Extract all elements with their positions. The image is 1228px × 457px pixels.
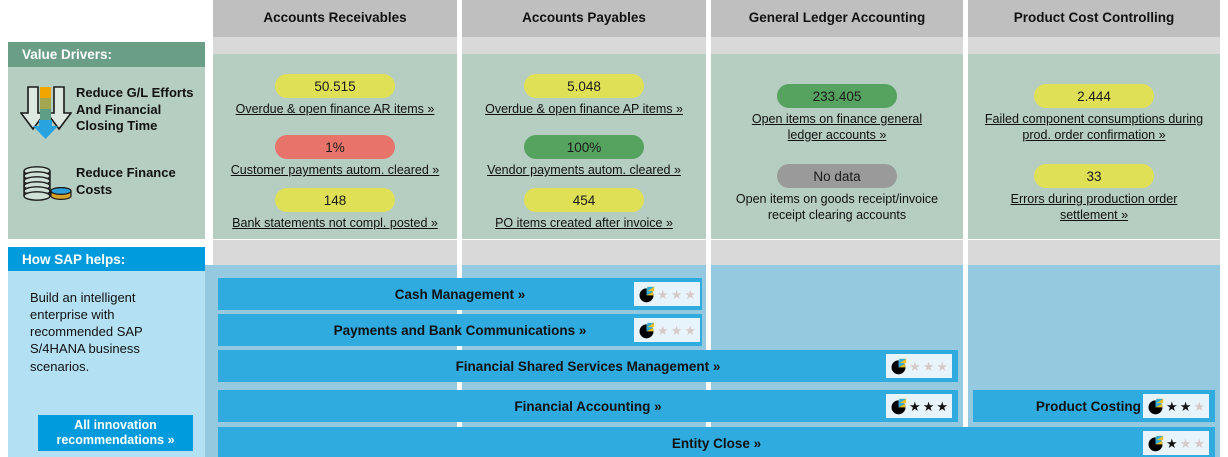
- column-header-ap-label: Accounts Payables: [522, 11, 646, 26]
- column-header-gl: General Ledger Accounting: [711, 0, 963, 37]
- scenario-entity-close[interactable]: Entity Close » ★ ★ ★: [218, 427, 1215, 457]
- star-3: ★: [1193, 437, 1205, 450]
- column-subheader-pcc: [968, 37, 1220, 54]
- star-3: ★: [684, 288, 696, 301]
- pie-chart-icon: [638, 322, 655, 339]
- star-1: ★: [909, 360, 921, 373]
- scenario-financial-accounting-label: Financial Accounting »: [514, 399, 661, 414]
- scenario-entity-close-rating: ★ ★ ★: [1143, 431, 1209, 455]
- how-sap-helps-panel: Build an intelligent enterprise with rec…: [8, 271, 205, 457]
- all-innovation-recommendations-button[interactable]: All innovation recommendations »: [38, 415, 193, 451]
- pie-chart-icon: [890, 398, 907, 415]
- kpi-ar-2-value: 148: [275, 188, 395, 212]
- star-2: ★: [1180, 437, 1192, 450]
- star-3: ★: [936, 400, 948, 413]
- scenario-financial-accounting[interactable]: Financial Accounting » ★ ★ ★: [218, 390, 958, 422]
- column-subheader-gl: [711, 37, 963, 54]
- kpi-column-ar: 50.515 Overdue & open finance AR items »…: [213, 54, 457, 239]
- pie-chart-icon: [890, 358, 907, 375]
- kpi-pcc-1-value: 33: [1034, 164, 1154, 188]
- column-subheader-ar: [213, 37, 457, 54]
- coin-stack-icon: [20, 165, 76, 210]
- scenario-cash-management[interactable]: Cash Management » ★ ★ ★: [218, 278, 702, 310]
- star-1: ★: [909, 400, 921, 413]
- how-sap-helps-title: How SAP helps:: [8, 247, 205, 271]
- scenario-track-head-pcc: [968, 240, 1220, 265]
- scenario-track-head-ar: [213, 240, 457, 265]
- scenario-financial-accounting-rating: ★ ★ ★: [886, 394, 952, 418]
- scenario-cash-management-rating: ★ ★ ★: [634, 282, 700, 306]
- scenario-track-head-ap: [462, 240, 706, 265]
- kpi-pcc-0[interactable]: 2.444 Failed component consumptions duri…: [968, 84, 1220, 143]
- scenario-financial-shared-services-management-rating: ★ ★ ★: [886, 354, 952, 378]
- kpi-ar-1-caption[interactable]: Customer payments autom. cleared »: [231, 163, 439, 179]
- kpi-column-gl: 233.405 Open items on finance general le…: [711, 54, 963, 239]
- top-left-spacer: [0, 0, 205, 42]
- kpi-pcc-0-caption[interactable]: Failed component consumptions during pro…: [974, 112, 1214, 143]
- column-subheader-ap: [462, 37, 706, 54]
- left-divider-gap: [0, 239, 205, 247]
- star-2: ★: [1180, 400, 1192, 413]
- kpi-gl-1-caption: Open items on goods receipt/invoice rece…: [721, 192, 953, 223]
- value-driver-label-0: Reduce G/L Efforts And Financial Closing…: [76, 85, 196, 135]
- kpi-pcc-0-value: 2.444: [1034, 84, 1154, 108]
- pie-chart-icon: [1147, 398, 1164, 415]
- kpi-column-ap: 5.048 Overdue & open finance AP items » …: [462, 54, 706, 239]
- value-drivers-title-label: Value Drivers:: [22, 47, 112, 62]
- kpi-gl-1-value: No data: [777, 164, 897, 188]
- kpi-ap-0-caption[interactable]: Overdue & open finance AP items »: [485, 102, 683, 118]
- star-2: ★: [671, 324, 683, 337]
- kpi-ar-0[interactable]: 50.515 Overdue & open finance AR items »: [213, 74, 457, 118]
- star-3: ★: [936, 360, 948, 373]
- how-sap-helps-title-label: How SAP helps:: [22, 252, 125, 267]
- star-1: ★: [657, 324, 669, 337]
- down-arrows-icon: [20, 85, 76, 148]
- scenario-product-costing-label: Product Costing »: [1036, 399, 1152, 414]
- value-drivers-panel: Reduce G/L Efforts And Financial Closing…: [8, 67, 205, 239]
- kpi-ap-2-value: 454: [524, 188, 644, 212]
- pie-chart-icon: [638, 286, 655, 303]
- kpi-ar-1-value: 1%: [275, 135, 395, 159]
- column-header-ar-label: Accounts Receivables: [263, 11, 406, 26]
- scenario-payments-bank-communications[interactable]: Payments and Bank Communications » ★ ★ ★: [218, 314, 702, 346]
- star-1: ★: [1166, 437, 1178, 450]
- pie-chart-icon: [1147, 435, 1164, 452]
- kpi-gl-0[interactable]: 233.405 Open items on finance general le…: [711, 84, 963, 143]
- kpi-gl-1: No data Open items on goods receipt/invo…: [711, 164, 963, 223]
- kpi-ar-2-caption[interactable]: Bank statements not compl. posted »: [232, 216, 438, 232]
- star-2: ★: [923, 400, 935, 413]
- kpi-column-pcc: 2.444 Failed component consumptions duri…: [968, 54, 1220, 239]
- column-header-gl-label: General Ledger Accounting: [749, 11, 926, 26]
- kpi-ap-0-value: 5.048: [524, 74, 644, 98]
- star-2: ★: [923, 360, 935, 373]
- kpi-ar-1[interactable]: 1% Customer payments autom. cleared »: [213, 135, 457, 179]
- kpi-gl-0-caption[interactable]: Open items on finance general ledger acc…: [747, 112, 927, 143]
- scenario-product-costing-rating: ★ ★ ★: [1143, 394, 1209, 418]
- star-3: ★: [1193, 400, 1205, 413]
- value-driver-dashboard: Accounts Receivables Accounts Payables G…: [0, 0, 1228, 457]
- scenario-payments-bank-communications-rating: ★ ★ ★: [634, 318, 700, 342]
- scenario-financial-shared-services-management-label: Financial Shared Services Management »: [456, 359, 721, 374]
- column-header-pcc-label: Product Cost Controlling: [1014, 11, 1174, 26]
- column-header-ap: Accounts Payables: [462, 0, 706, 37]
- value-driver-item-0: Reduce G/L Efforts And Financial Closing…: [20, 85, 196, 148]
- kpi-gl-0-value: 233.405: [777, 84, 897, 108]
- kpi-ap-1[interactable]: 100% Vendor payments autom. cleared »: [462, 135, 706, 179]
- value-driver-item-1: Reduce Finance Costs: [20, 165, 196, 210]
- kpi-ar-0-caption[interactable]: Overdue & open finance AR items »: [236, 102, 435, 118]
- kpi-ap-2-caption[interactable]: PO items created after invoice »: [495, 216, 673, 232]
- kpi-ar-0-value: 50.515: [275, 74, 395, 98]
- scenario-product-costing[interactable]: Product Costing » ★ ★ ★: [973, 390, 1215, 422]
- scenario-entity-close-label: Entity Close »: [672, 436, 761, 451]
- kpi-ap-1-value: 100%: [524, 135, 644, 159]
- kpi-ap-1-caption[interactable]: Vendor payments autom. cleared »: [487, 163, 681, 179]
- column-header-pcc: Product Cost Controlling: [968, 0, 1220, 37]
- scenario-payments-bank-communications-label: Payments and Bank Communications »: [334, 323, 587, 338]
- kpi-ap-0[interactable]: 5.048 Overdue & open finance AP items »: [462, 74, 706, 118]
- scenario-track-head-gl: [711, 240, 963, 265]
- column-header-ar: Accounts Receivables: [213, 0, 457, 37]
- how-sap-helps-body: Build an intelligent enterprise with rec…: [30, 289, 195, 375]
- scenario-cash-management-label: Cash Management »: [395, 287, 526, 302]
- kpi-pcc-1[interactable]: 33 Errors during production order settle…: [968, 164, 1220, 223]
- star-2: ★: [671, 288, 683, 301]
- kpi-ar-2[interactable]: 148 Bank statements not compl. posted »: [213, 188, 457, 232]
- value-drivers-title: Value Drivers:: [8, 42, 205, 67]
- kpi-ap-2[interactable]: 454 PO items created after invoice »: [462, 188, 706, 232]
- star-1: ★: [1166, 400, 1178, 413]
- value-driver-label-1: Reduce Finance Costs: [76, 165, 196, 198]
- star-3: ★: [684, 324, 696, 337]
- scenario-financial-shared-services-management[interactable]: Financial Shared Services Management » ★…: [218, 350, 958, 382]
- star-1: ★: [657, 288, 669, 301]
- kpi-pcc-1-caption[interactable]: Errors during production order settlemen…: [1004, 192, 1184, 223]
